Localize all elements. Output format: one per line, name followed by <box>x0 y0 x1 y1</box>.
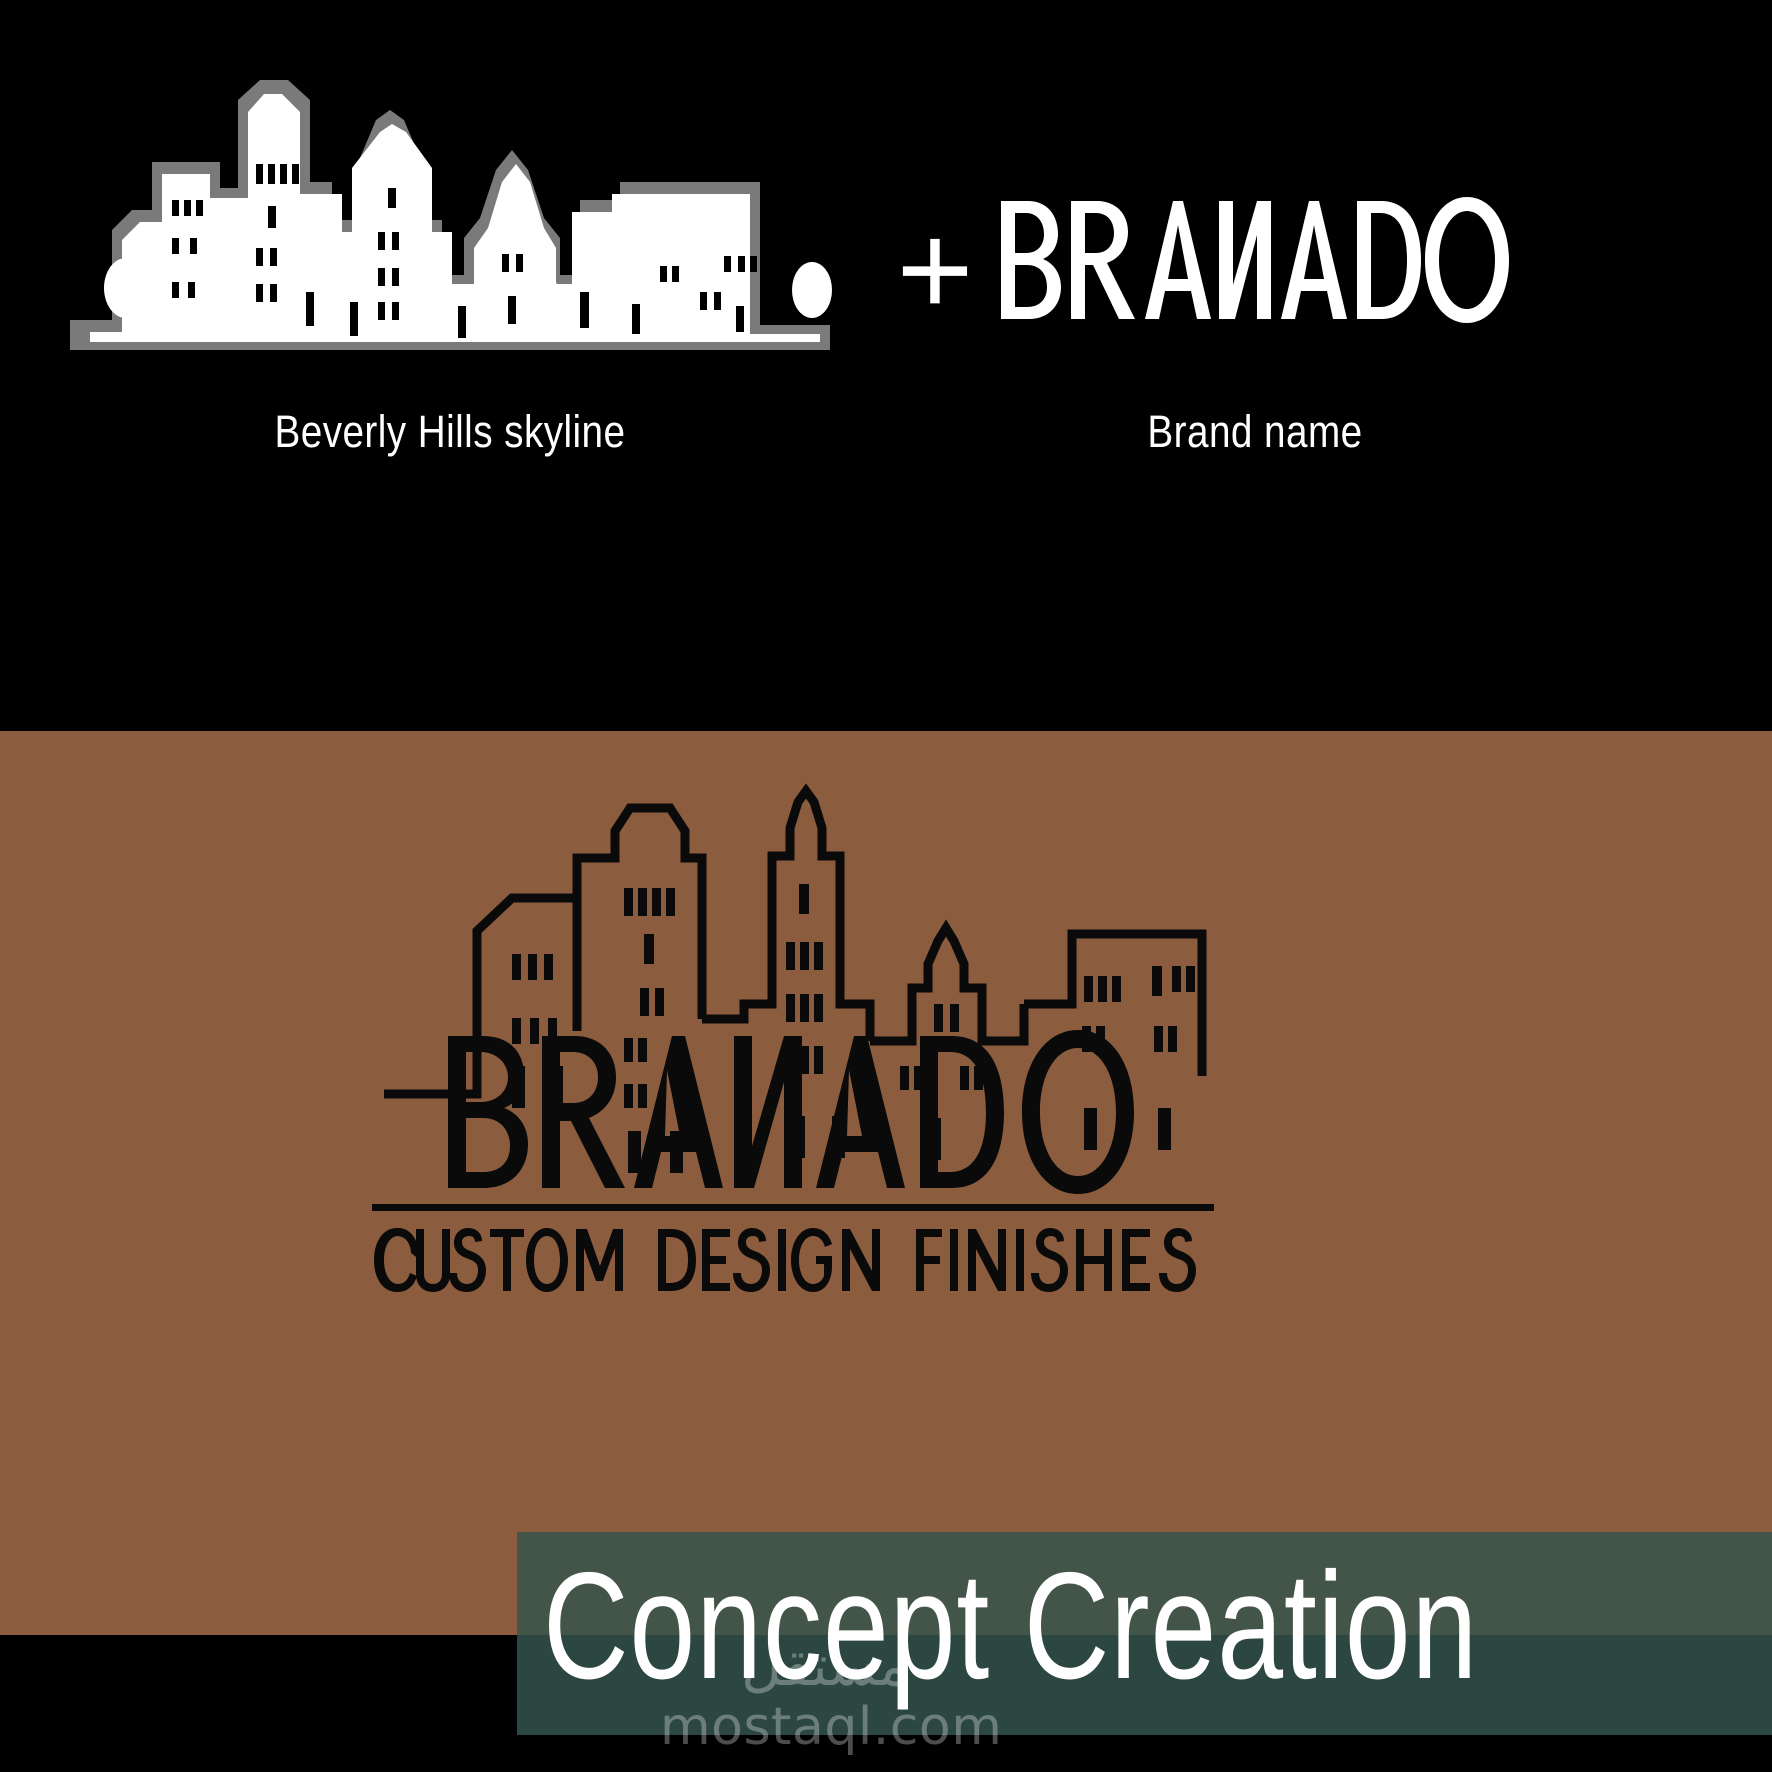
concept-creation-poster: + <box>0 0 1772 1772</box>
bravado-logo-lockup <box>372 736 1402 1296</box>
concept-creation-banner: Concept Creation <box>517 1532 1772 1735</box>
caption-beverly-hills-skyline: Beverly Hills skyline <box>226 406 673 458</box>
top-black-section: + <box>0 0 1772 731</box>
brown-logo-section: BRAVADO CUSTOM DESIGN FINISHES <box>0 731 1772 1635</box>
brand-wordmark-top <box>995 195 1515 325</box>
caption-brand-name: Brand name <box>1036 406 1475 458</box>
banner-title: Concept Creation <box>543 1540 1478 1712</box>
beverly-hills-skyline-silhouette-icon <box>60 70 840 370</box>
logo-tagline-text: CUSTOM DESIGN FINISHES <box>0 731 1 732</box>
plus-icon: + <box>880 215 990 325</box>
logo-wordmark-text: BRAVADO <box>0 731 1 732</box>
